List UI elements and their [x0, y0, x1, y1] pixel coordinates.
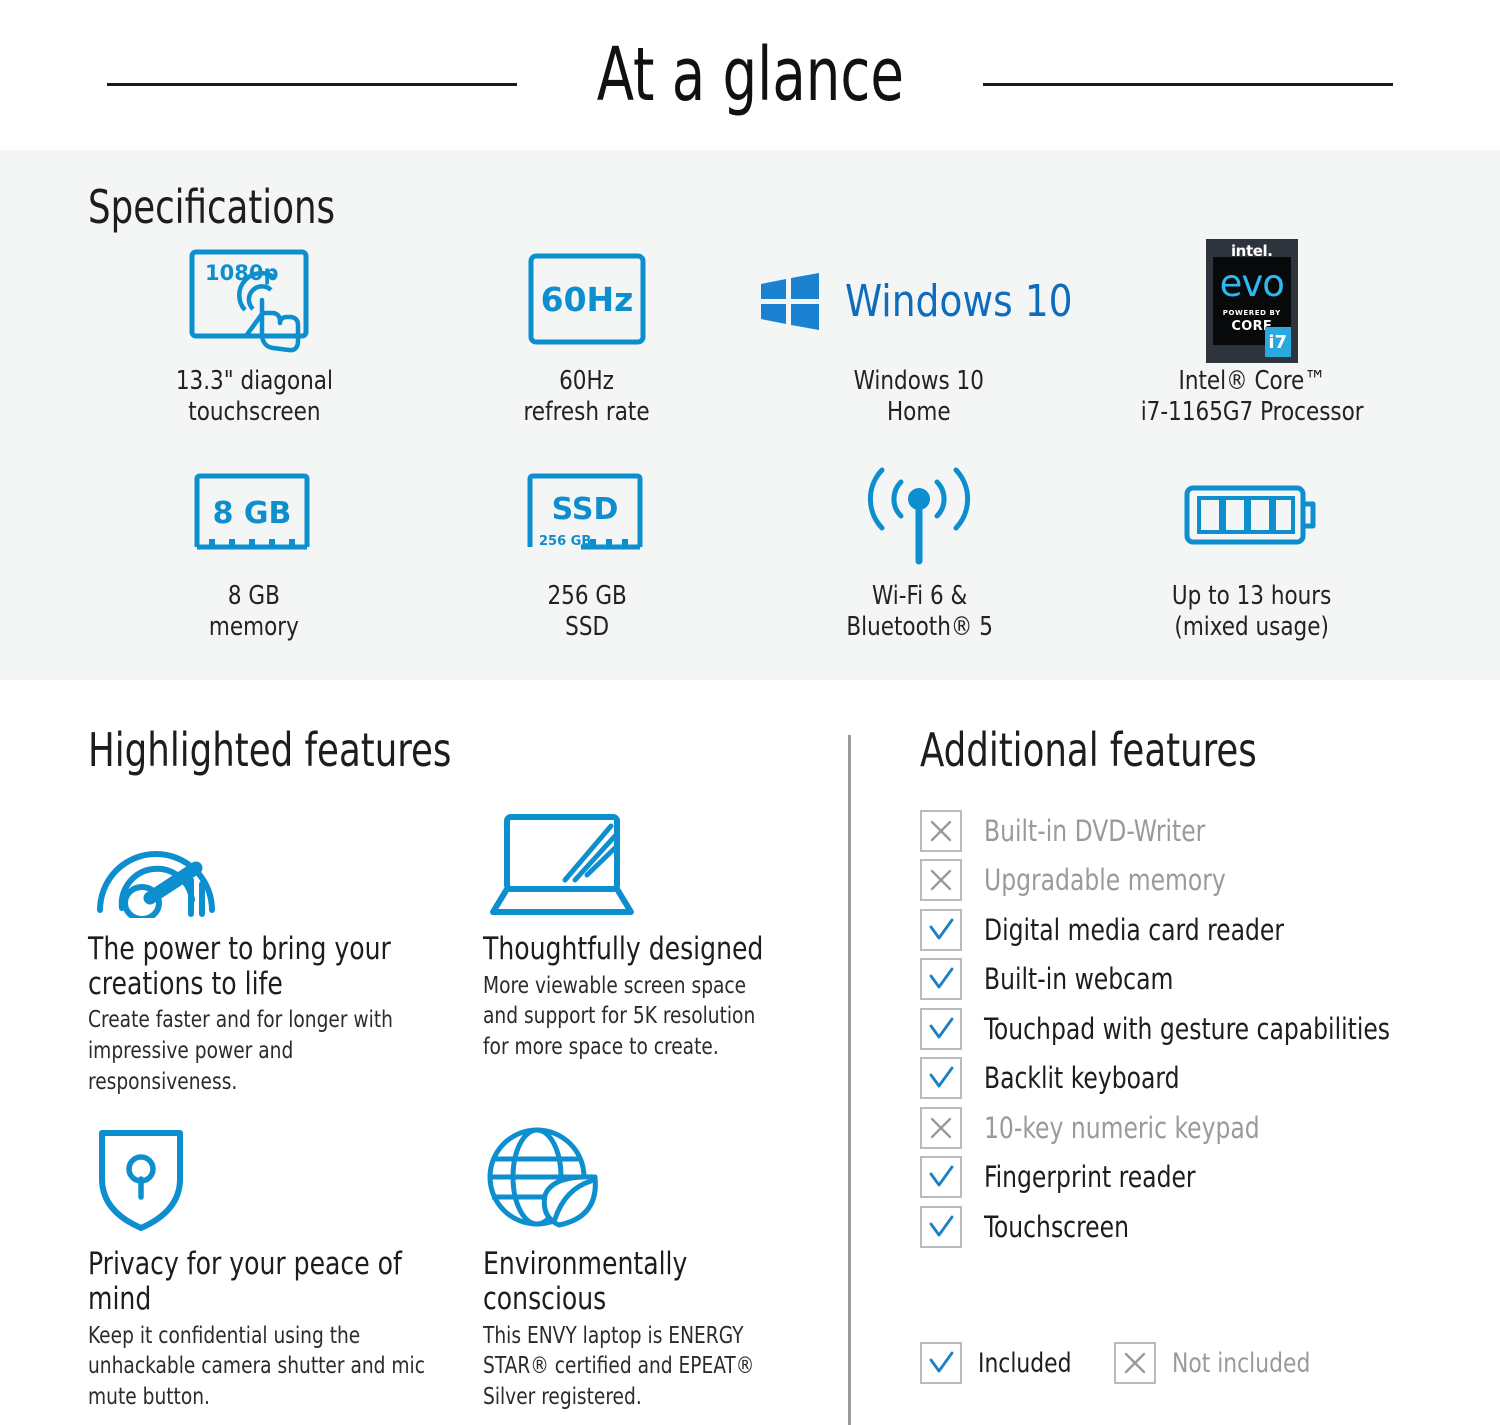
spec-label-wireless: Wi-Fi 6 & Bluetooth® 5: [846, 581, 993, 644]
ssd-module-icon: SSD 256 GB: [523, 457, 651, 575]
additional-feature-label: Built-in DVD-Writer: [984, 814, 1205, 848]
spec-item-wireless: Wi-Fi 6 & Bluetooth® 5: [753, 457, 1086, 672]
additional-feature-row: Digital media card reader: [920, 905, 1480, 955]
spec-label-processor: Intel® Core™ i7-1165G7 Processor: [1140, 366, 1363, 429]
additional-feature-row: Built-in webcam: [920, 955, 1480, 1005]
specifications-heading: Specifications: [88, 180, 335, 234]
specifications-grid: 1080p 13.3" diagonal touchscreen: [88, 242, 1418, 672]
intel-powered-by-text: POWERED BY: [1206, 309, 1298, 317]
windows-logo-icon: Windows 10: [759, 242, 1079, 360]
specifications-panel: Specifications 1080p 13.3" diagonal: [0, 150, 1500, 680]
highlighted-features-grid: The power to bring your creations to lif…: [88, 810, 808, 1412]
windows-logo-text: Windows 10: [845, 276, 1073, 327]
header-rule-right: [983, 83, 1393, 86]
additional-feature-label: Built-in webcam: [984, 962, 1173, 996]
additional-feature-label: Upgradable memory: [984, 863, 1226, 897]
laptop-screen-icon: [483, 810, 808, 918]
highlighted-feature-description: More viewable screen space and support f…: [483, 971, 776, 1063]
cross-icon: [920, 810, 962, 852]
additional-feature-row: Upgradable memory: [920, 856, 1480, 906]
intel-brand-text: intel.: [1206, 242, 1298, 260]
svg-text:SSD: SSD: [551, 492, 618, 527]
additional-feature-row: Touchscreen: [920, 1202, 1480, 1252]
header-rule-left: [107, 83, 517, 86]
highlighted-features-heading: Highlighted features: [88, 723, 451, 777]
touchscreen-1080p-icon: 1080p: [187, 242, 321, 360]
spec-label-windows: Windows 10 Home: [854, 366, 984, 429]
spec-item-processor: intel. evo POWERED BY CORE i7 Intel® Cor…: [1086, 242, 1419, 457]
highlighted-feature-description: This ENVY laptop is ENERGY STAR® certifi…: [483, 1321, 776, 1413]
page-header: At a glance: [0, 0, 1500, 150]
additional-feature-label: Touchscreen: [984, 1210, 1129, 1244]
cross-icon: [1114, 1342, 1156, 1384]
spec-item-refresh-rate: 60Hz 60Hz refresh rate: [421, 242, 754, 457]
highlighted-feature-title: Privacy for your peace of mind: [88, 1247, 444, 1316]
additional-feature-label: Digital media card reader: [984, 913, 1284, 947]
legend-not-included-label: Not included: [1172, 1348, 1310, 1379]
additional-feature-row: Fingerprint reader: [920, 1153, 1480, 1203]
additional-features-heading: Additional features: [920, 723, 1257, 777]
refresh-rate-icon: 60Hz: [526, 242, 648, 360]
additional-feature-row: 10-key numeric keypad: [920, 1103, 1480, 1153]
globe-leaf-icon: [483, 1125, 808, 1233]
check-icon: [920, 1206, 962, 1248]
column-divider: [848, 735, 851, 1425]
highlighted-feature-power: The power to bring your creations to lif…: [88, 810, 483, 1097]
features-legend: Included Not included: [920, 1342, 1326, 1384]
intel-evo-badge-icon: intel. evo POWERED BY CORE i7: [1206, 242, 1298, 360]
highlighted-feature-title: The power to bring your creations to lif…: [88, 932, 444, 1001]
legend-not-included: Not included: [1114, 1342, 1326, 1384]
additional-feature-label: Backlit keyboard: [984, 1061, 1179, 1095]
features-section: Highlighted features Additional features…: [0, 680, 1500, 1425]
additional-feature-label: 10-key numeric keypad: [984, 1111, 1260, 1145]
wifi-antenna-icon: [854, 457, 984, 575]
shield-keyhole-icon: [88, 1125, 483, 1233]
svg-text:256 GB: 256 GB: [539, 534, 591, 549]
highlighted-feature-design: Thoughtfully designed More viewable scre…: [483, 810, 808, 1097]
svg-text:60Hz: 60Hz: [540, 280, 633, 319]
spec-label-touchscreen: 13.3" diagonal touchscreen: [176, 366, 333, 429]
check-icon: [920, 1008, 962, 1050]
highlighted-feature-title: Thoughtfully designed: [483, 932, 776, 967]
page-title: At a glance: [596, 32, 903, 118]
intel-tier-badge: i7: [1265, 327, 1291, 357]
additional-feature-row: Touchpad with gesture capabilities: [920, 1004, 1480, 1054]
legend-included-label: Included: [978, 1348, 1071, 1379]
spec-item-windows: Windows 10 Windows 10 Home: [753, 242, 1086, 457]
cross-icon: [920, 859, 962, 901]
windows-flag-icon: [759, 272, 821, 330]
highlighted-feature-description: Keep it confidential using the unhackabl…: [88, 1321, 444, 1413]
intel-evo-text: evo: [1206, 265, 1298, 302]
legend-included: Included: [920, 1342, 1082, 1384]
spec-item-storage: SSD 256 GB 256 GB SSD: [421, 457, 754, 672]
additional-feature-label: Fingerprint reader: [984, 1160, 1196, 1194]
highlighted-feature-description: Create faster and for longer with impres…: [88, 1005, 444, 1097]
spec-label-battery: Up to 13 hours (mixed usage): [1172, 581, 1331, 644]
check-icon: [920, 1057, 962, 1099]
svg-text:8 GB: 8 GB: [213, 496, 292, 531]
spec-label-storage: 256 GB SSD: [547, 581, 626, 644]
check-icon: [920, 909, 962, 951]
memory-module-icon: 8 GB: [190, 457, 318, 575]
check-icon: [920, 1342, 962, 1384]
highlighted-feature-privacy: Privacy for your peace of mind Keep it c…: [88, 1125, 483, 1412]
spec-item-battery: Up to 13 hours (mixed usage): [1086, 457, 1419, 672]
spec-label-refresh-rate: 60Hz refresh rate: [524, 366, 650, 429]
battery-icon: [1182, 457, 1322, 575]
cross-icon: [920, 1107, 962, 1149]
highlighted-feature-environment: Environmentally conscious This ENVY lapt…: [483, 1125, 808, 1412]
spec-item-touchscreen: 1080p 13.3" diagonal touchscreen: [88, 242, 421, 457]
additional-feature-label: Touchpad with gesture capabilities: [984, 1012, 1390, 1046]
spec-label-memory: 8 GB memory: [209, 581, 299, 644]
additional-feature-row: Built-in DVD-Writer: [920, 806, 1480, 856]
spec-item-memory: 8 GB 8 GB memory: [88, 457, 421, 672]
additional-feature-row: Backlit keyboard: [920, 1054, 1480, 1104]
additional-features-list: Built-in DVD-Writer Upgradable memory Di…: [920, 806, 1480, 1252]
highlighted-feature-title: Environmentally conscious: [483, 1247, 776, 1316]
at-a-glance-infographic: At a glance Specifications 1080p: [0, 0, 1500, 1425]
speedometer-icon: [88, 810, 483, 918]
check-icon: [920, 1156, 962, 1198]
check-icon: [920, 958, 962, 1000]
